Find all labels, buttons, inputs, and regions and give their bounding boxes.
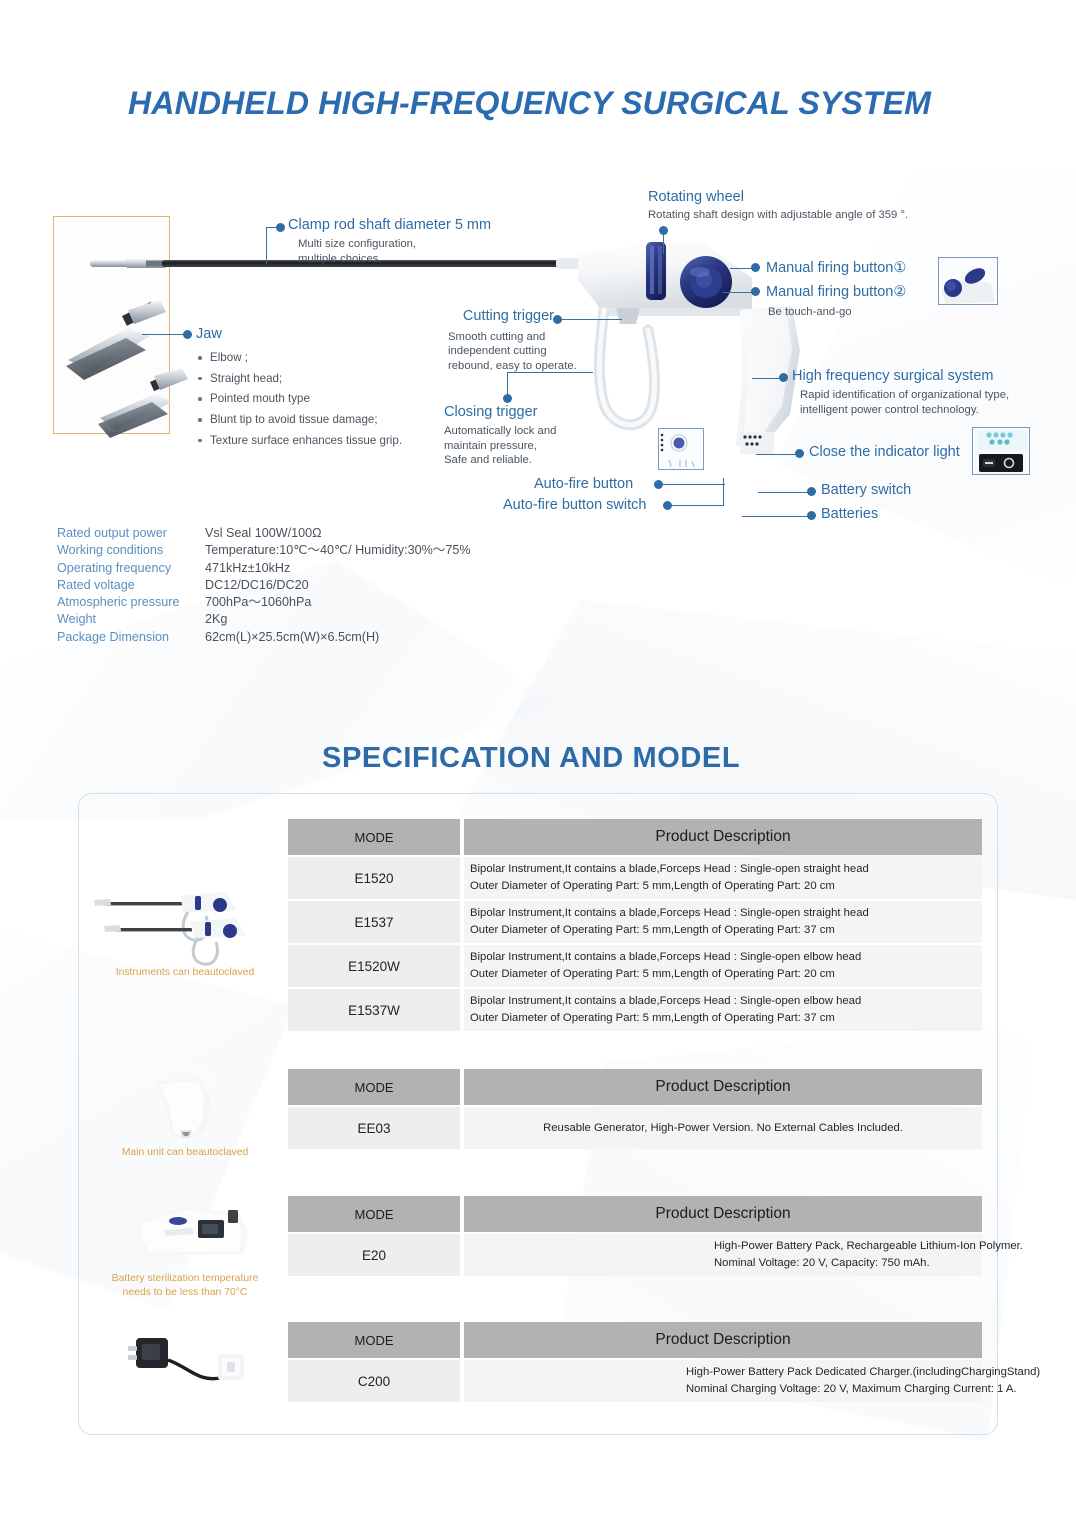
jaw-dot [183, 330, 192, 339]
spec-row: Rated voltage DC12/DC16/DC20 [57, 577, 471, 594]
table-charger: MODE Product Description C200 High-Power… [288, 1322, 982, 1402]
battery-switch-leader [758, 492, 808, 493]
battery-switch-dot [807, 487, 816, 496]
cell-description: Bipolar Instrument,It contains a blade,F… [464, 989, 982, 1031]
callout-auto-fire-button: Auto-fire button [534, 475, 633, 493]
callout-rotating-wheel-sub: Rotating shaft design with adjustable an… [648, 208, 908, 222]
callout-manual-firing-2-sub: Be touch-and-go [768, 305, 906, 319]
table-row: E1537 Bipolar Instrument,It contains a b… [288, 901, 982, 943]
cell-description: High-Power Battery Pack, Rechargeable Li… [464, 1234, 982, 1276]
batteries-leader [742, 516, 808, 517]
spec-row: Rated output power Vsl Seal 100W/100Ω [57, 525, 471, 542]
table-row: E20 High-Power Battery Pack, Rechargeabl… [288, 1234, 982, 1276]
spec-value: DC12/DC16/DC20 [205, 577, 309, 594]
rotating-wheel-dot [659, 226, 668, 235]
auto-fire-switch-leader-v [723, 478, 724, 506]
cell-description: High-Power Battery Pack Dedicated Charge… [464, 1360, 982, 1402]
rotating-wheel-leader [663, 232, 664, 254]
spec-key: Weight [57, 611, 205, 628]
firing2-dot [751, 287, 760, 296]
thumb-battery: Battery sterilization temperature needs … [80, 1194, 290, 1300]
indicator-light-inset [972, 427, 1030, 475]
firing1-leader [730, 268, 752, 269]
jaw-detail-lower [98, 368, 188, 438]
table-generator: MODE Product Description EE03 Reusable G… [288, 1069, 982, 1149]
closing-trigger-leader-v [507, 372, 508, 396]
jaw-straight-tip [90, 259, 168, 268]
table-header-row: MODE Product Description [288, 1069, 982, 1105]
desc-line: High-Power Battery Pack, Rechargeable Li… [714, 1238, 1023, 1255]
cell-description: Bipolar Instrument,It contains a blade,F… [464, 901, 982, 943]
spec-key: Rated output power [57, 525, 205, 542]
spec-key: Package Dimension [57, 629, 205, 646]
callout-battery-switch-title: Battery switch [821, 481, 911, 499]
thumb-caption: Main unit can beautoclaved [80, 1146, 290, 1160]
column-header-mode: MODE [288, 1069, 460, 1105]
spec-value: Temperature:10℃～40℃/ Humidity:30%～75% [205, 542, 471, 559]
list-item: Pointed mouth type [196, 389, 402, 410]
callout-auto-fire-button-title: Auto-fire button [534, 475, 633, 493]
auto-fire-leader [663, 484, 725, 485]
callout-manual-firing-1-title: Manual firing button① [766, 259, 906, 277]
spec-row: Weight 2Kg [57, 611, 471, 628]
spec-row: Working conditions Temperature:10℃～40℃/ … [57, 542, 471, 559]
desc-line: Outer Diameter of Operating Part: 5 mm,L… [470, 922, 982, 939]
callout-closing-trigger-sub: Automatically lock and maintain pressure… [444, 424, 556, 467]
callout-batteries: Batteries [821, 505, 878, 523]
generator-thumb-art [80, 1068, 290, 1146]
callout-cutting-trigger-sub: Smooth cutting and independent cutting r… [448, 330, 577, 373]
spec-key: Working conditions [57, 542, 205, 559]
column-header-mode: MODE [288, 1196, 460, 1232]
table-row: E1520W Bipolar Instrument,It contains a … [288, 945, 982, 987]
callout-close-indicator-light-title: Close the indicator light [809, 443, 960, 461]
jaw-feature-list: Elbow ; Straight head; Pointed mouth typ… [196, 348, 402, 451]
callout-auto-fire-button-switch-title: Auto-fire button switch [503, 496, 646, 514]
callout-close-indicator-light: Close the indicator light [809, 443, 960, 461]
desc-line: Reusable Generator, High-Power Version. … [543, 1120, 903, 1137]
table-row: E1520 Bipolar Instrument,It contains a b… [288, 857, 982, 899]
callout-manual-firing-1: Manual firing button① [766, 259, 906, 277]
cell-mode: E1520W [288, 945, 460, 987]
spec-row: Atmospheric pressure 700hPa～1060hPa [57, 594, 471, 611]
cell-mode: E1537 [288, 901, 460, 943]
batteries-dot [807, 511, 816, 520]
list-item: Straight head; [196, 369, 402, 390]
spec-value: 700hPa～1060hPa [205, 594, 311, 611]
callout-batteries-title: Batteries [821, 505, 878, 523]
callout-jaw-title: Jaw [196, 325, 402, 343]
battery-thumb-art [80, 1194, 290, 1272]
column-header-description: Product Description [464, 1322, 982, 1358]
spec-value: 62cm(L)×25.5cm(W)×6.5cm(H) [205, 629, 379, 646]
cutting-trigger-leader [562, 319, 622, 320]
cell-mode: EE03 [288, 1107, 460, 1149]
callout-closing-trigger-title: Closing trigger [444, 403, 556, 421]
table-instruments: MODE Product Description E1520 Bipolar I… [288, 819, 982, 1031]
desc-line: Outer Diameter of Operating Part: 5 mm,L… [470, 966, 982, 983]
callout-battery-switch: Battery switch [821, 481, 911, 499]
table-battery: MODE Product Description E20 High-Power … [288, 1196, 982, 1276]
spec-key: Operating frequency [57, 560, 205, 577]
cell-description: Reusable Generator, High-Power Version. … [464, 1107, 982, 1149]
callout-cutting-trigger: Cutting trigger [446, 307, 554, 325]
thumb-instruments: Instruments can beautoclaved [80, 888, 290, 980]
firing1-dot [751, 263, 760, 272]
column-header-description: Product Description [464, 819, 982, 855]
spec-value: 2Kg [205, 611, 227, 628]
table-header-row: MODE Product Description [288, 1322, 982, 1358]
cutting-trigger-dot [553, 315, 562, 324]
cutting-trigger [599, 308, 654, 425]
indicator-leader [756, 454, 796, 455]
indicator-light-dots [740, 432, 774, 454]
table-row: E1537W Bipolar Instrument,It contains a … [288, 989, 982, 1031]
indicator-dot [795, 449, 804, 458]
table-header-row: MODE Product Description [288, 1196, 982, 1232]
table-row: C200 High-Power Battery Pack Dedicated C… [288, 1360, 982, 1402]
spec-key: Rated voltage [57, 577, 205, 594]
desc-line: Outer Diameter of Operating Part: 5 mm,L… [470, 878, 982, 895]
desc-line: Bipolar Instrument,It contains a blade,F… [470, 861, 982, 878]
callout-high-frequency-system-sub: Rapid identification of organizational t… [800, 388, 1009, 417]
callout-clamp-rod: Clamp rod shaft diameter 5 mm Multi size… [288, 216, 491, 266]
cell-description: Bipolar Instrument,It contains a blade,F… [464, 945, 982, 987]
auto-fire-button-inset [658, 428, 704, 470]
spec-row: Package Dimension 62cm(L)×25.5cm(W)×6.5c… [57, 629, 471, 646]
callout-manual-firing-2: Manual firing button② Be touch-and-go [766, 283, 906, 320]
section-title: SPECIFICATION AND MODEL [322, 742, 740, 775]
list-item: Elbow ; [196, 348, 402, 369]
page-title: HANDHELD HIGH-FREQUENCY SURGICAL SYSTEM [128, 85, 931, 122]
callout-auto-fire-button-switch: Auto-fire button switch [503, 496, 646, 514]
callout-jaw: Jaw Elbow ; Straight head; Pointed mouth… [196, 325, 402, 451]
thumb-charger [80, 1320, 290, 1398]
spec-key: Atmospheric pressure [57, 594, 205, 611]
callout-rotating-wheel-title: Rotating wheel [648, 188, 908, 206]
auto-fire-switch-dot [663, 501, 672, 510]
desc-line: Bipolar Instrument,It contains a blade,F… [470, 949, 982, 966]
callout-clamp-rod-title: Clamp rod shaft diameter 5 mm [288, 216, 491, 234]
callout-clamp-rod-sub: Multi size configuration, multiple choic… [298, 237, 491, 266]
technical-specs-list: Rated output power Vsl Seal 100W/100Ω Wo… [57, 525, 471, 646]
column-header-description: Product Description [464, 1196, 982, 1232]
hfss-leader [752, 378, 780, 379]
list-item: Texture surface enhances tissue grip. [196, 431, 402, 452]
table-header-row: MODE Product Description [288, 819, 982, 855]
callout-cutting-trigger-title: Cutting trigger [446, 307, 554, 325]
callout-rotating-wheel: Rotating wheel Rotating shaft design wit… [648, 188, 908, 223]
cell-mode: E20 [288, 1234, 460, 1276]
desc-line: High-Power Battery Pack Dedicated Charge… [686, 1364, 1040, 1381]
charger-thumb-art [80, 1320, 290, 1398]
clamp-rod-dot [276, 223, 285, 232]
auto-fire-switch-leader-h [672, 505, 724, 506]
cell-mode: E1537W [288, 989, 460, 1031]
desc-line: Nominal Voltage: 20 V, Capacity: 750 mAh… [714, 1255, 930, 1272]
callout-closing-trigger: Closing trigger Automatically lock and m… [444, 403, 556, 467]
list-item: Blunt tip to avoid tissue damage; [196, 410, 402, 431]
jaw-detail-upper [66, 300, 166, 380]
thumb-caption: Instruments can beautoclaved [80, 966, 290, 980]
cell-description: Bipolar Instrument,It contains a blade,F… [464, 857, 982, 899]
closing-trigger-dot [503, 394, 512, 403]
manual-firing-button-dome [680, 256, 732, 308]
callout-manual-firing-2-title: Manual firing button② [766, 283, 906, 301]
spec-value: 471kHz±10kHz [205, 560, 290, 577]
jaw-leader [142, 334, 184, 335]
spec-value: Vsl Seal 100W/100Ω [205, 525, 322, 542]
cell-mode: E1520 [288, 857, 460, 899]
desc-line: Outer Diameter of Operating Part: 5 mm,L… [470, 1010, 982, 1027]
callout-high-frequency-system-title: High frequency surgical system [792, 367, 1009, 385]
callout-high-frequency-system: High frequency surgical system Rapid ide… [792, 367, 1009, 417]
column-header-mode: MODE [288, 1322, 460, 1358]
table-row: EE03 Reusable Generator, High-Power Vers… [288, 1107, 982, 1149]
firing2-leader [722, 292, 752, 293]
hfss-dot [779, 373, 788, 382]
column-header-mode: MODE [288, 819, 460, 855]
firing-buttons-inset [938, 257, 998, 305]
column-header-description: Product Description [464, 1069, 982, 1105]
auto-fire-dot [654, 480, 663, 489]
desc-line: Bipolar Instrument,It contains a blade,F… [470, 993, 982, 1010]
clamp-rod-leader-v [266, 228, 267, 264]
thumb-generator: Main unit can beautoclaved [80, 1068, 290, 1160]
desc-line: Bipolar Instrument,It contains a blade,F… [470, 905, 982, 922]
spec-row: Operating frequency 471kHz±10kHz [57, 560, 471, 577]
cell-mode: C200 [288, 1360, 460, 1402]
instrument-thumb-art [80, 888, 290, 966]
thumb-caption: Battery sterilization temperature needs … [80, 1272, 290, 1300]
closing-trigger-leader-h [507, 372, 593, 373]
desc-line: Nominal Charging Voltage: 20 V, Maximum … [686, 1381, 1017, 1398]
